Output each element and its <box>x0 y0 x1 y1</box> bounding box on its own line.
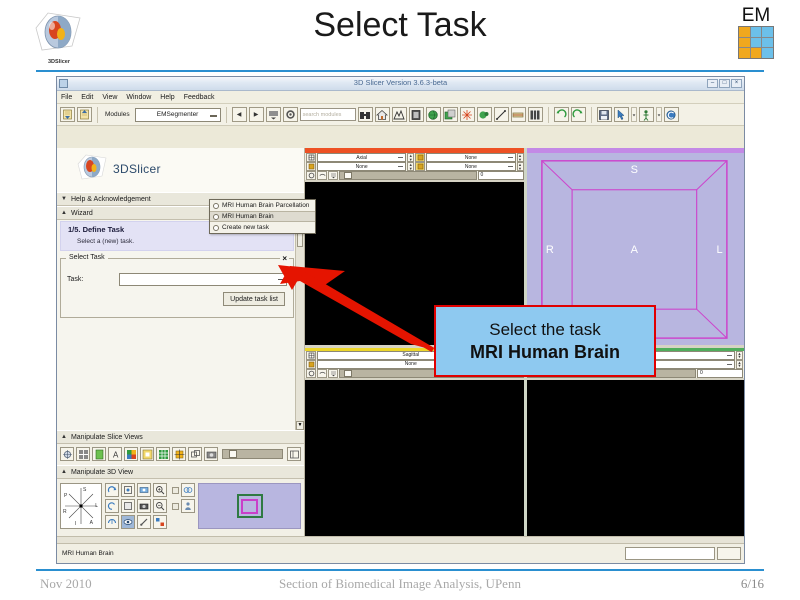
globe-icon[interactable] <box>426 107 441 122</box>
search-input[interactable]: search modules <box>300 108 356 121</box>
orient-label-r: R <box>63 509 67 515</box>
task-label: Task: <box>67 276 119 283</box>
slider-handle[interactable] <box>344 370 352 377</box>
orientation-widget[interactable]: P S L R I A <box>60 483 102 529</box>
axial-layer-icon[interactable] <box>306 162 316 171</box>
footer-divider <box>36 569 764 571</box>
save-scene-icon[interactable] <box>77 107 92 122</box>
mouse-mode-icon[interactable] <box>614 107 629 122</box>
toolbar-separator <box>548 107 549 123</box>
panel-scrollbar[interactable]: ▲ ▼ <box>295 220 304 430</box>
dropdown-item-mri-human-brain[interactable]: MRI Human Brain <box>210 211 315 222</box>
slider-handle[interactable] <box>344 172 352 179</box>
chevron-down-icon <box>727 355 732 356</box>
orient-label-l: L <box>95 503 98 509</box>
slider-handle[interactable] <box>229 450 237 458</box>
slicer-logo-caption: 3DSlicer <box>28 59 90 65</box>
wizard-step-subtitle: Select a (new) task. <box>77 238 288 245</box>
window-title: 3D Slicer Version 3.6.3-beta <box>57 78 744 87</box>
sagittal-canvas[interactable] <box>305 380 525 544</box>
menu-view[interactable]: View <box>102 94 117 101</box>
axial-link-icon[interactable] <box>306 171 316 180</box>
chevron-down-icon[interactable] <box>631 107 637 122</box>
people-checkbox-row <box>172 499 195 513</box>
em-logo-grid <box>738 26 774 59</box>
axial-layer-value: None <box>356 164 368 170</box>
chevron-down-icon: ▼ <box>61 196 67 202</box>
people-checkbox[interactable] <box>172 503 179 510</box>
settings-gear-icon[interactable] <box>283 107 298 122</box>
stereo-checkbox-row <box>172 483 195 497</box>
menu-help[interactable]: Help <box>160 94 174 101</box>
chevron-up-icon: ▲ <box>61 210 67 216</box>
chevron-down-icon <box>210 115 217 117</box>
orient-label-p: P <box>64 493 67 499</box>
slice-tool-strip: A <box>60 447 301 461</box>
chevron-down-icon <box>727 364 732 365</box>
window-titlebar[interactable]: 3D Slicer Version 3.6.3-beta – □ × <box>57 77 744 91</box>
radio-icon <box>213 203 219 209</box>
axial-controls: Axial ▲▼ None ▲▼ <box>305 148 525 182</box>
grid-icon[interactable] <box>528 107 543 122</box>
header-divider <box>36 70 764 72</box>
section-manipulate-slice-views[interactable]: ▲ Manipulate Slice Views <box>57 430 304 444</box>
volume-icon[interactable] <box>409 107 424 122</box>
view3d-thumbnail[interactable] <box>198 483 301 529</box>
redo-icon[interactable] <box>571 107 586 122</box>
minimize-button[interactable]: – <box>707 79 718 88</box>
callout-line-1: Select the task <box>489 320 601 340</box>
svg-text:A: A <box>113 450 119 459</box>
section-label: Wizard <box>71 210 93 217</box>
toolbar-separator <box>97 107 98 123</box>
people-icon[interactable] <box>181 499 195 513</box>
dropdown-item-label: MRI Human Brain Parcellation <box>222 202 309 209</box>
axial-foreground-icon[interactable] <box>415 153 425 162</box>
app-status-bar: MRI Human Brain <box>57 543 744 563</box>
stereo-icon[interactable] <box>181 483 195 497</box>
em-logo-label: EM <box>730 6 782 25</box>
spin-icon[interactable] <box>105 499 119 513</box>
color-icon[interactable] <box>477 107 492 122</box>
orient-label-i: I <box>75 521 76 527</box>
coronal-canvas[interactable] <box>525 380 745 544</box>
pan-icon[interactable] <box>137 515 151 529</box>
chevron-down-icon <box>398 166 403 167</box>
modules-label: Modules <box>105 111 130 118</box>
cube-label-left: L <box>717 244 723 256</box>
module-selector[interactable]: EMSegmenter <box>135 108 221 122</box>
window-controls: – □ × <box>707 79 742 88</box>
axial-label-value-2: None <box>465 164 477 170</box>
axial-row-1: Axial ▲▼ None ▲▼ <box>305 153 525 162</box>
thumbnail-inner-box <box>241 499 258 514</box>
wizard-body: 1/5. Define Task Select a (new) task. Se… <box>57 220 304 430</box>
rock-icon[interactable] <box>105 515 119 529</box>
section-label: Manipulate 3D View <box>71 469 133 476</box>
axial-layer-combo[interactable]: None <box>317 162 406 171</box>
axial-visibility-icon[interactable] <box>306 153 316 162</box>
module-list-icon[interactable] <box>266 107 281 122</box>
transform-icon[interactable] <box>511 107 526 122</box>
axial-orientation-value: Axial <box>356 155 367 161</box>
sagittal-visibility-icon[interactable] <box>306 351 316 360</box>
cube-label-superior: S <box>631 164 638 176</box>
toolbar-separator <box>591 107 592 123</box>
callout-line-2: MRI Human Brain <box>470 342 620 363</box>
crosshair-icon[interactable] <box>60 447 74 461</box>
chevron-down-icon <box>278 279 284 280</box>
select-task-legend: Select Task <box>66 254 108 261</box>
close-button[interactable]: × <box>731 79 742 88</box>
axial-spin-4[interactable]: ▲▼ <box>517 162 524 171</box>
foreground-icon[interactable] <box>92 447 106 461</box>
status-extra-field[interactable] <box>717 547 741 560</box>
menubar: File Edit View Window Help Feedback <box>57 91 744 104</box>
save-data-icon[interactable] <box>597 107 612 122</box>
task-combobox[interactable] <box>119 273 287 286</box>
toolbar-separator <box>226 107 227 123</box>
axis-icon[interactable] <box>153 515 167 529</box>
section-manipulate-3d-view[interactable]: ▲ Manipulate 3D View <box>57 465 304 479</box>
next-module-icon[interactable]: ▶ <box>249 107 264 122</box>
camera-view-icon[interactable] <box>137 483 151 497</box>
thumbnail-outer-box <box>237 494 263 518</box>
sagittal-visibility-toggle-icon[interactable] <box>317 369 327 378</box>
center-icon[interactable] <box>121 483 135 497</box>
coronal-offset-value[interactable]: 0 <box>697 369 743 378</box>
menu-window[interactable]: Window <box>126 94 151 101</box>
footer-page-number: 6/16 <box>741 576 764 592</box>
histogram-icon[interactable] <box>392 107 407 122</box>
coronal-spin-1[interactable]: ▲▼ <box>736 351 743 360</box>
dropdown-item-mri-human-brain-parcellation[interactable]: MRI Human Brain Parcellation <box>210 200 315 211</box>
chevron-down-icon <box>398 157 403 158</box>
home-icon[interactable] <box>375 107 390 122</box>
label-icon[interactable]: A <box>108 447 122 461</box>
slide-footer: Nov 2010 Section of Biomedical Image Ana… <box>0 574 800 596</box>
update-task-list-button[interactable]: Update task list <box>223 292 285 306</box>
sagittal-more-icon[interactable] <box>328 369 338 378</box>
prev-module-icon[interactable]: ◀ <box>232 107 247 122</box>
reload-icon[interactable] <box>664 107 679 122</box>
axial-spin-2[interactable]: ▲▼ <box>517 153 524 162</box>
stereo-checkbox[interactable] <box>172 487 179 494</box>
axial-visibility-toggle-icon[interactable] <box>317 171 327 180</box>
sagittal-layer-value: None <box>405 361 417 367</box>
dropdown-item-label: Create new task <box>222 224 269 231</box>
panel-brand-label: 3DSlicer <box>113 162 161 176</box>
section-label: Manipulate Slice Views <box>71 434 143 441</box>
undo-icon[interactable] <box>554 107 569 122</box>
axial-row-2: None ▲▼ None ▲▼ <box>305 162 525 171</box>
orient-label-a: A <box>90 520 93 526</box>
box-icon[interactable] <box>121 499 135 513</box>
chevron-down-icon <box>508 166 513 167</box>
dropdown-item-create-new-task[interactable]: Create new task <box>210 222 315 233</box>
select-task-groupbox: Select Task × Task: Update task list <box>60 258 294 318</box>
axial-label-icon-2[interactable] <box>415 162 425 171</box>
axial-label-combo-1[interactable]: None <box>426 153 515 162</box>
fourup-layout-icon[interactable] <box>76 447 90 461</box>
binoculars-icon[interactable] <box>358 107 373 122</box>
axial-spin-3[interactable]: ▲▼ <box>407 162 414 171</box>
sagittal-link-icon[interactable] <box>306 369 316 378</box>
maximize-button[interactable]: □ <box>719 79 730 88</box>
crosshair-move-icon[interactable] <box>172 447 186 461</box>
slice-opacity-slider[interactable] <box>222 449 283 459</box>
ruler-icon[interactable] <box>494 107 509 122</box>
zoom-in-icon[interactable] <box>153 483 167 497</box>
compare-icon[interactable] <box>140 447 154 461</box>
fiducial-icon[interactable] <box>460 107 475 122</box>
axial-row-3: 0 <box>305 171 525 180</box>
link-views-icon[interactable] <box>188 447 202 461</box>
person-icon[interactable] <box>639 107 654 122</box>
slice-view-toolbar: A <box>57 444 304 465</box>
axial-slice-slider[interactable] <box>339 171 477 180</box>
coronal-spin-2[interactable]: ▲▼ <box>736 360 743 369</box>
radio-icon <box>213 225 219 231</box>
status-message: MRI Human Brain <box>57 550 625 557</box>
dropdown-item-label: MRI Human Brain <box>222 213 274 220</box>
grid-layout-icon[interactable] <box>156 447 170 461</box>
screenshot-icon[interactable] <box>137 499 151 513</box>
axial-orientation-combo[interactable]: Axial <box>317 153 406 162</box>
axial-more-icon[interactable] <box>328 171 338 180</box>
chevron-up-icon: ▲ <box>61 434 67 440</box>
radio-icon <box>213 214 219 220</box>
sagittal-layer-icon[interactable] <box>306 360 316 369</box>
view3d-controls: P S L R I A <box>57 479 304 533</box>
layers-icon[interactable] <box>443 107 458 122</box>
load-scene-icon[interactable] <box>60 107 75 122</box>
zoom-out-icon[interactable] <box>153 499 167 513</box>
search-placeholder: search modules <box>303 112 342 118</box>
axial-label-combo-2[interactable]: None <box>426 162 515 171</box>
panel-brand: 3DSlicer <box>57 148 304 192</box>
snapshot-icon[interactable] <box>204 447 218 461</box>
task-dropdown-popup[interactable]: MRI Human Brain Parcellation MRI Human B… <box>209 199 316 234</box>
orient-label-s: S <box>83 487 86 493</box>
page-title: Select Task <box>0 6 800 45</box>
em-logo: EM <box>730 6 782 64</box>
sagittal-orientation-value: Sagittal <box>402 352 419 358</box>
axial-label-value-1: None <box>465 155 477 161</box>
menu-file[interactable]: File <box>61 94 72 101</box>
chevron-down-icon[interactable] <box>656 107 662 122</box>
footer-affiliation: Section of Biomedical Image Analysis, UP… <box>0 576 800 592</box>
menu-feedback[interactable]: Feedback <box>184 94 215 101</box>
status-field[interactable] <box>625 547 715 560</box>
eye-icon[interactable] <box>121 515 135 529</box>
view3d-button-grid <box>105 483 167 529</box>
cube-label-anterior: A <box>631 244 638 256</box>
color-layout-icon[interactable] <box>124 447 138 461</box>
view3d-checkboxes <box>172 483 195 513</box>
chevron-down-icon <box>508 157 513 158</box>
app-horizontal-scrollbar[interactable] <box>57 536 744 543</box>
axial-offset-value[interactable]: 0 <box>478 171 524 180</box>
fit-icon[interactable] <box>287 447 301 461</box>
close-icon[interactable]: × <box>280 254 289 263</box>
section-label: Help & Acknowledgement <box>71 196 151 203</box>
annotation-callout: Select the task MRI Human Brain <box>434 305 656 377</box>
chevron-up-icon: ▲ <box>61 469 67 475</box>
main-toolbar: Modules EMSegmenter ◀ ▶ search modules <box>57 104 744 126</box>
module-selected-label: EMSegmenter <box>157 111 199 118</box>
cube-label-right: R <box>546 244 554 256</box>
scroll-down-icon[interactable]: ▼ <box>296 421 304 430</box>
slicer-brand-icon <box>75 153 109 187</box>
menu-edit[interactable]: Edit <box>81 94 93 101</box>
axial-spin-1[interactable]: ▲▼ <box>407 153 414 162</box>
task-row: Task: <box>67 273 287 286</box>
rotate-icon[interactable] <box>105 483 119 497</box>
